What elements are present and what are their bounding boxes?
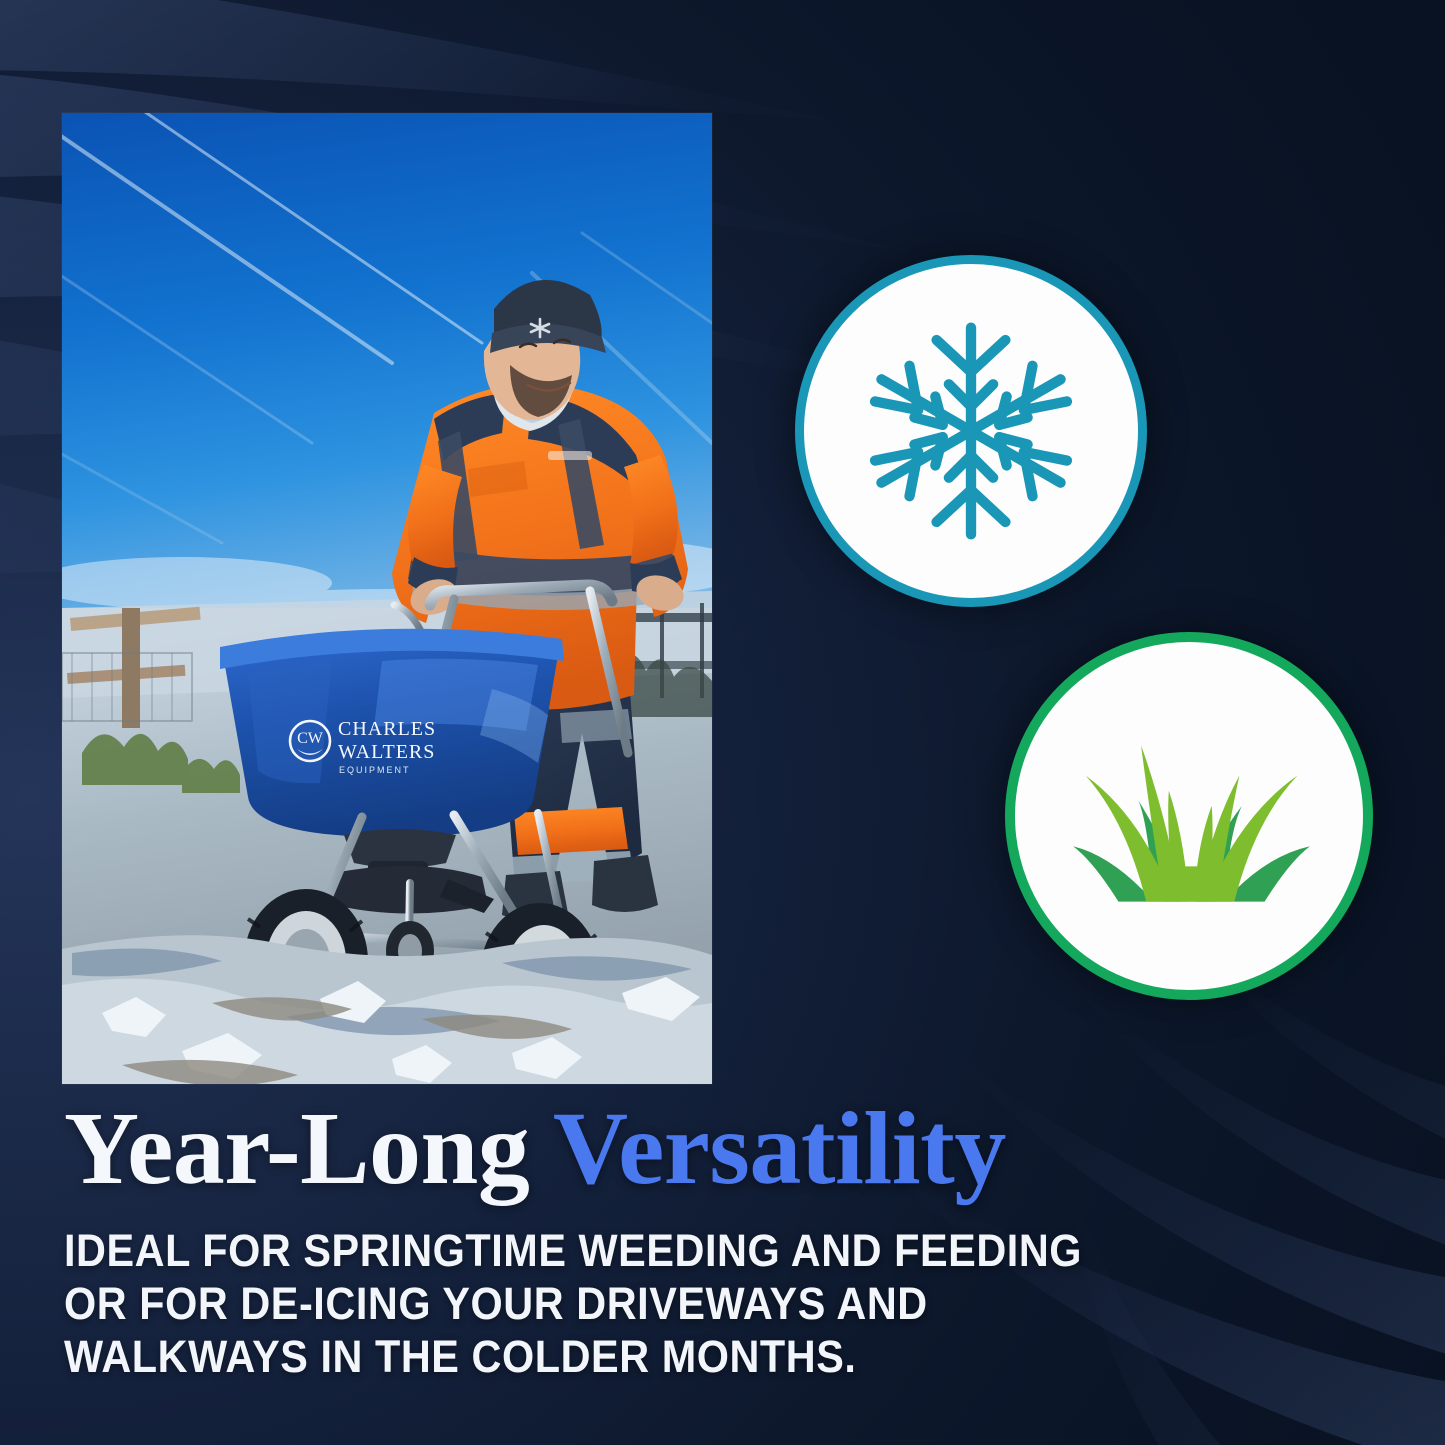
grass-icon xyxy=(1063,690,1315,942)
svg-text:CW: CW xyxy=(297,730,324,747)
promo-canvas: CW CHARLES WALTERS EQUIPMENT xyxy=(0,0,1445,1445)
subcopy-line-1: IDEAL FOR SPRINGTIME WEEDING AND FEEDING xyxy=(64,1224,1278,1277)
promo-subcopy: IDEAL FOR SPRINGTIME WEEDING AND FEEDING… xyxy=(64,1224,1278,1383)
headline-part-white: Year-Long xyxy=(64,1091,529,1206)
product-photo: CW CHARLES WALTERS EQUIPMENT xyxy=(62,113,712,1084)
badge-spring xyxy=(1005,632,1373,1000)
headline-part-blue: Versatility xyxy=(553,1091,1006,1206)
subcopy-line-3: WALKWAYS IN THE COLDER MONTHS. xyxy=(64,1330,1278,1383)
snowflake-icon xyxy=(848,308,1094,554)
svg-text:WALTERS: WALTERS xyxy=(338,741,435,763)
page-title: Year-Long Versatility xyxy=(64,1096,1384,1202)
svg-text:EQUIPMENT: EQUIPMENT xyxy=(339,765,411,775)
subcopy-line-2: OR FOR DE-ICING YOUR DRIVEWAYS AND xyxy=(64,1277,1278,1330)
badge-winter xyxy=(795,255,1147,607)
promo-text-block: Year-Long Versatility IDEAL FOR SPRINGTI… xyxy=(64,1096,1384,1383)
svg-text:CHARLES: CHARLES xyxy=(338,718,436,740)
